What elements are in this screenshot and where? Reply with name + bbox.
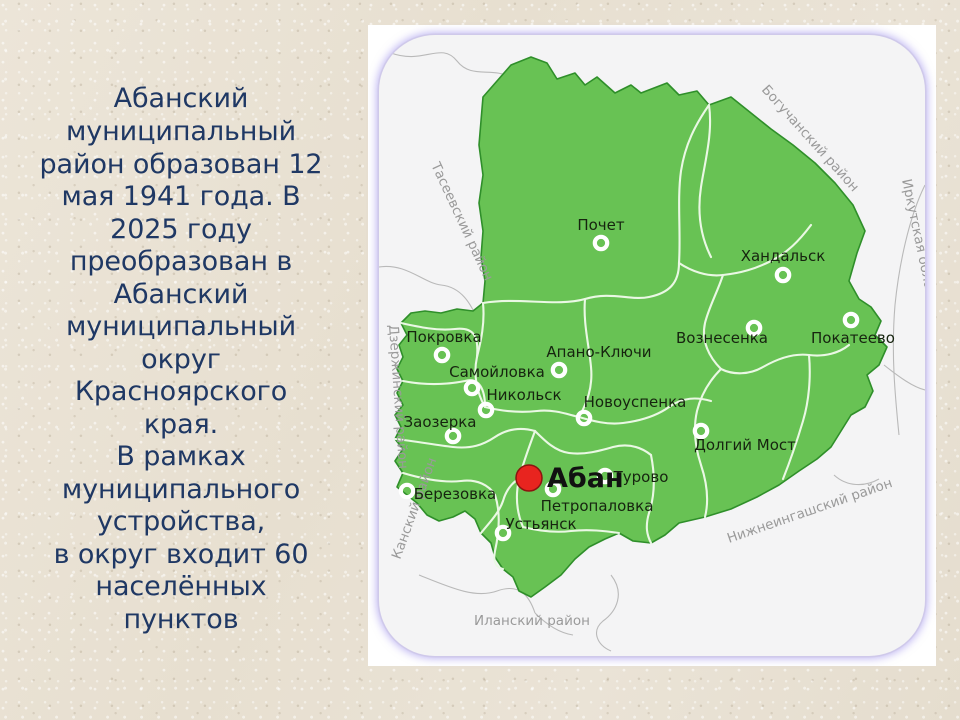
map-svg[interactable]: Тасеевский районБогучанский районИркутск… — [379, 35, 925, 656]
map-panel: Тасеевский районБогучанский районИркутск… — [379, 35, 925, 656]
capital-label: Абан — [547, 463, 624, 494]
neighbour-label: Иланский район — [474, 613, 590, 629]
settlement-label: Покровка — [406, 328, 481, 346]
settlement-label: Хандальск — [741, 247, 826, 265]
map-card: Тасеевский районБогучанский районИркутск… — [368, 25, 936, 666]
settlement-label: Новоуспенка — [584, 393, 687, 411]
settlement-label: Покатеево — [811, 329, 895, 347]
description-panel: Абанский муниципальный район образован 1… — [0, 0, 362, 720]
settlement-label: Самойловка — [449, 363, 545, 381]
settlement-label: Долгий Мост — [694, 436, 796, 454]
settlement-label: Апано-Ключи — [546, 343, 651, 361]
neighbour-label: Иркутская область — [898, 178, 925, 314]
capital-marker-group[interactable]: Абан — [516, 463, 624, 494]
capital-dot[interactable] — [516, 465, 542, 491]
description-text: Абанский муниципальный район образован 1… — [40, 83, 323, 636]
settlement-label: Березовка — [414, 485, 497, 503]
settlement-label: Вознесенка — [676, 329, 768, 347]
settlement-label: Никольск — [487, 386, 562, 404]
settlement-label: Почет — [577, 216, 625, 234]
settlement-label: Петропаловка — [541, 497, 654, 515]
settlement-marker[interactable]: Березовка — [401, 485, 496, 503]
settlement-label: Заозерка — [404, 413, 477, 431]
settlement-label: Устьянск — [505, 515, 576, 533]
